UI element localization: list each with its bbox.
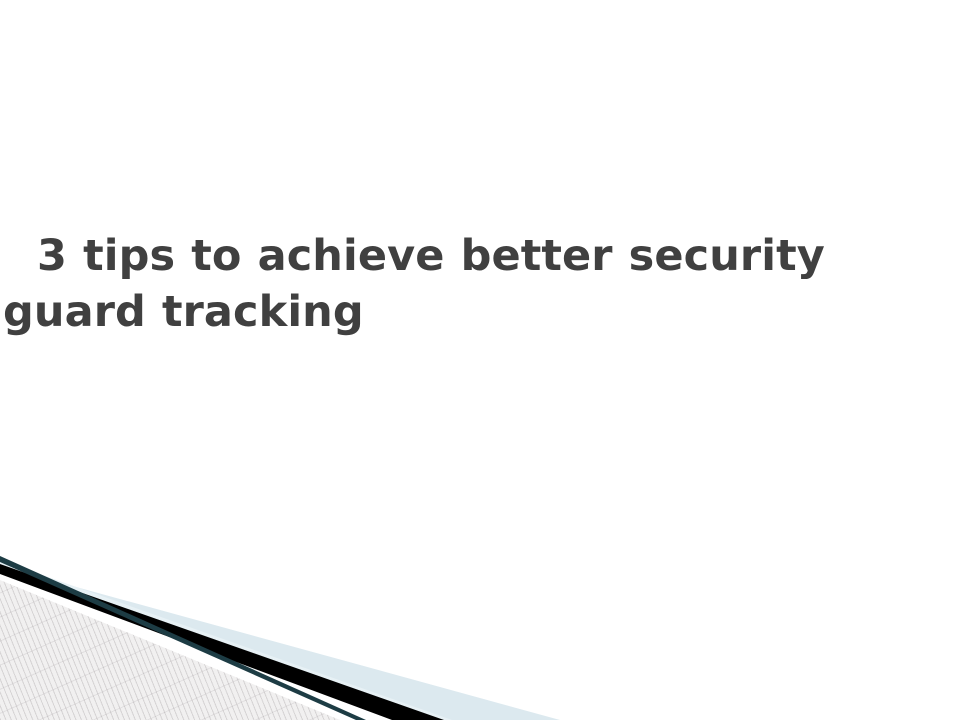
corner-decoration — [0, 540, 960, 720]
white-separator-band — [0, 574, 392, 720]
light-blue-highlight — [0, 560, 452, 720]
wedge-edge-line — [0, 556, 366, 720]
corner-decoration-svg — [0, 540, 960, 720]
page-title: 3 tips to achieve better security guard … — [0, 228, 960, 340]
title-placeholder[interactable]: 3 tips to achieve better security guard … — [0, 228, 960, 340]
black-band — [0, 564, 444, 720]
light-blue-band — [0, 566, 560, 720]
slide-canvas: 3 tips to achieve better security guard … — [0, 0, 960, 720]
textured-gray-wedge — [0, 540, 960, 720]
